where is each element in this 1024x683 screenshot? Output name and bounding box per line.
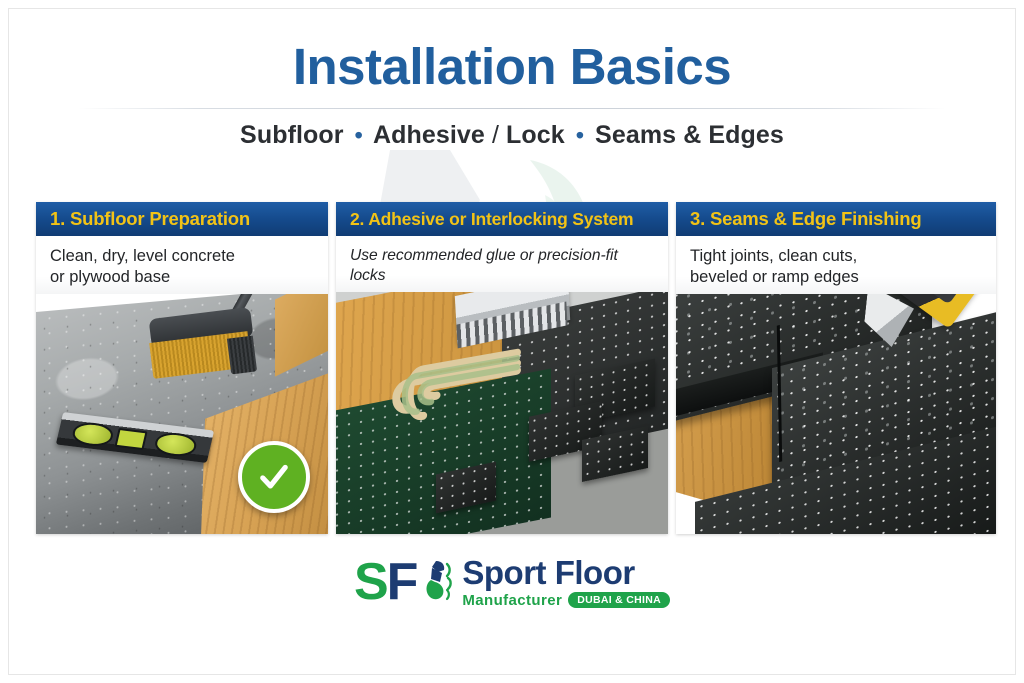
logo-region-badge: DUBAI & CHINA [568, 592, 670, 608]
infographic-canvas: Installation Basics Subfloor • Adhesive … [0, 0, 1024, 683]
subtitle-part-subfloor: Subfloor [240, 121, 344, 149]
bullet-dot-icon-2: • [572, 122, 588, 148]
runner-figure-icon [420, 559, 454, 605]
logo-letter-f: F [387, 556, 417, 608]
panel-1-caption-line-2: or plywood base [50, 267, 316, 288]
subtitle-slash: / [492, 121, 499, 149]
bullet-dot-icon: • [351, 122, 367, 148]
logo-brand-name: Sport Floor [462, 556, 670, 589]
level-vial-center [115, 428, 149, 450]
check-icon [256, 459, 292, 495]
logo-manufacturer-label: Manufacturer [462, 593, 562, 608]
panel-2-caption: Use recommended glue or precision-fit lo… [336, 236, 668, 292]
panel-3-heading: 3. Seams & Edge Finishing [690, 208, 921, 230]
panel-2-header-bar: 2. Adhesive or Interlocking System [336, 202, 668, 236]
panel-subfloor-preparation[interactable]: 1. Subfloor Preparation [36, 202, 328, 534]
logo-monogram: S F [354, 556, 416, 608]
panel-3-caption-line-2: beveled or ramp edges [690, 267, 984, 288]
title-divider [78, 108, 946, 109]
logo-subline: Manufacturer DUBAI & CHINA [462, 592, 670, 608]
panel-adhesive-or-interlocking-system[interactable]: 2. Adhesive or Interlocking System [336, 202, 668, 534]
panel-3-header-bar: 3. Seams & Edge Finishing [676, 202, 996, 236]
panel-2-caption-line-1: Use recommended glue or precision-fit lo… [350, 246, 656, 286]
logo-wordmark: Sport Floor Manufacturer DUBAI & CHINA [462, 556, 670, 608]
panel-2-heading: 2. Adhesive or Interlocking System [350, 209, 633, 230]
panel-seams-and-edge-finishing[interactable]: 3. Seams & Edge Finishing Tight joints, … [676, 202, 996, 534]
broom-bristles-dark [227, 336, 257, 375]
page-title: Installation Basics [0, 40, 1024, 94]
subtitle-part-seams: Seams & Edges [595, 121, 784, 149]
panel-3-caption-line-1: Tight joints, clean cuts, [690, 246, 984, 267]
panel-1-header-bar: 1. Subfloor Preparation [36, 202, 328, 236]
logo-letter-s: S [354, 556, 387, 608]
level-bubble-left [71, 421, 116, 448]
header: Installation Basics Subfloor • Adhesive … [0, 40, 1024, 150]
panel-1-caption-line-1: Clean, dry, level concrete [50, 246, 316, 267]
subtitle-part-lock: Lock [506, 121, 565, 149]
subtitle-part-adhesive: Adhesive [373, 121, 485, 149]
panel-row: 1. Subfloor Preparation [36, 202, 996, 534]
brand-logo[interactable]: S F Sport Floor Manufacturer DUBAI & CHI… [0, 556, 1024, 608]
level-bubble-right [153, 431, 198, 458]
panel-1-heading: 1. Subfloor Preparation [50, 208, 250, 230]
page-subtitle: Subfloor • Adhesive / Lock • Seams & Edg… [0, 121, 1024, 150]
panel-1-caption: Clean, dry, level concrete or plywood ba… [36, 236, 328, 294]
panel-3-caption: Tight joints, clean cuts, beveled or ram… [676, 236, 996, 294]
